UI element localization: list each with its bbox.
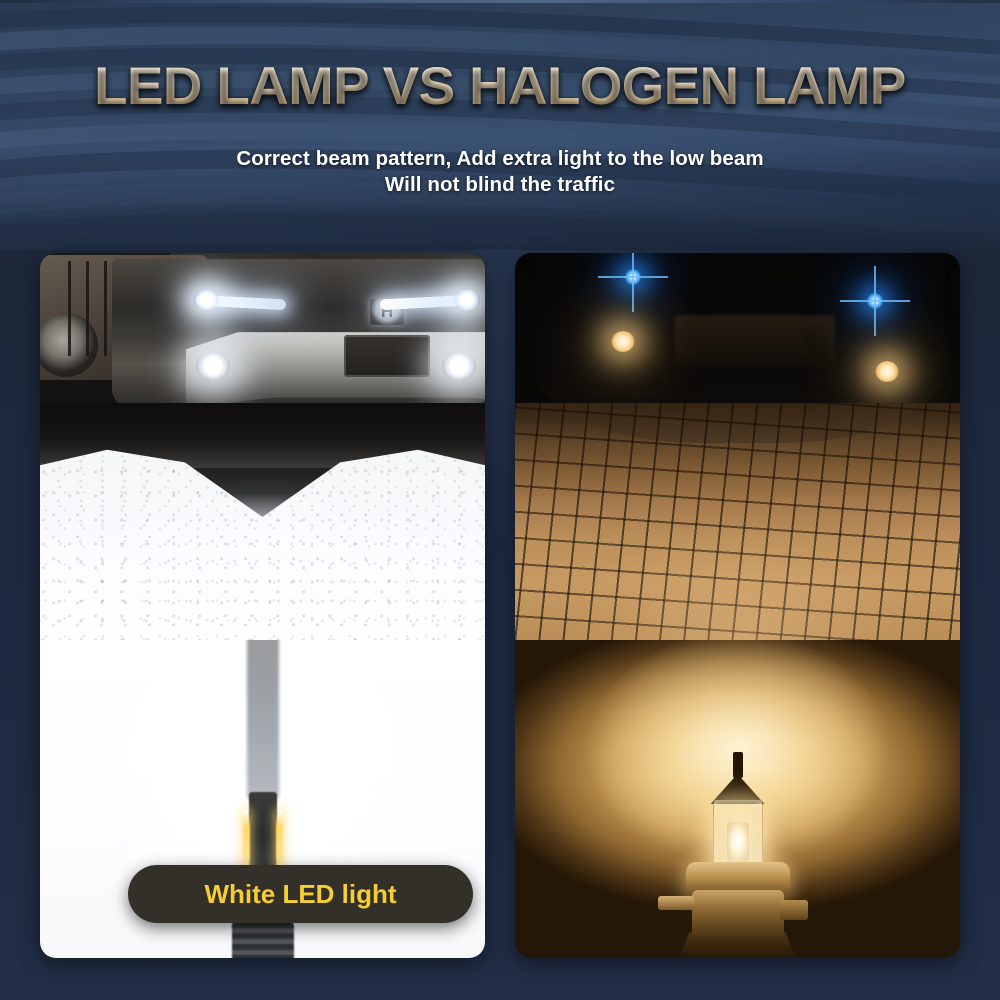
subtitle-line-1: Correct beam pattern, Add extra light to… [0,146,1000,172]
led-bulb-base [232,922,294,958]
header-wave-pattern [0,0,1000,250]
blue-accent-light-right [867,293,883,309]
top-edge-strip [0,0,1000,3]
led-night-scene [40,253,485,640]
halogen-bulb-scene [515,640,960,958]
subtitle-line-2: Will not blind the traffic [0,172,1000,198]
page-title: LED LAMP VS HALOGEN LAMP [94,60,906,113]
headlight-core-right [454,289,480,311]
halogen-bulb-pins [678,932,798,958]
halogen-night-scene [515,253,960,640]
page-title-wrapper: LED LAMP VS HALOGEN LAMP [0,60,1000,113]
header-background [0,0,1000,250]
halogen-car-grille [675,315,835,369]
comparison-panel-led: White LED light [40,253,485,958]
page-subtitle: Correct beam pattern, Add extra light to… [0,146,1000,198]
poster-root: LED LAMP VS HALOGEN LAMP Correct beam pa… [0,0,1000,1000]
led-road-photo [40,253,485,640]
blue-accent-light-left [625,269,641,285]
halogen-headlight-right [875,361,899,382]
comparison-panel-halogen: yellow halogen lamp [515,253,960,958]
halogen-bulb-photo [515,640,960,958]
led-bulb-stem [247,640,279,800]
headlight-core-left [194,289,220,311]
fog-light-right [442,352,476,380]
badge-white-led-light[interactable]: White LED light [128,865,473,923]
license-plate [344,335,430,377]
halogen-headlight-left [611,331,635,352]
brick-pavement [515,403,960,640]
civic-bumper [186,329,485,407]
halogen-road-photo [515,253,960,640]
fog-light-left [196,352,230,380]
halogen-filament [727,822,749,862]
halogen-bulb-base [692,890,784,936]
civic-front-body [112,259,485,409]
